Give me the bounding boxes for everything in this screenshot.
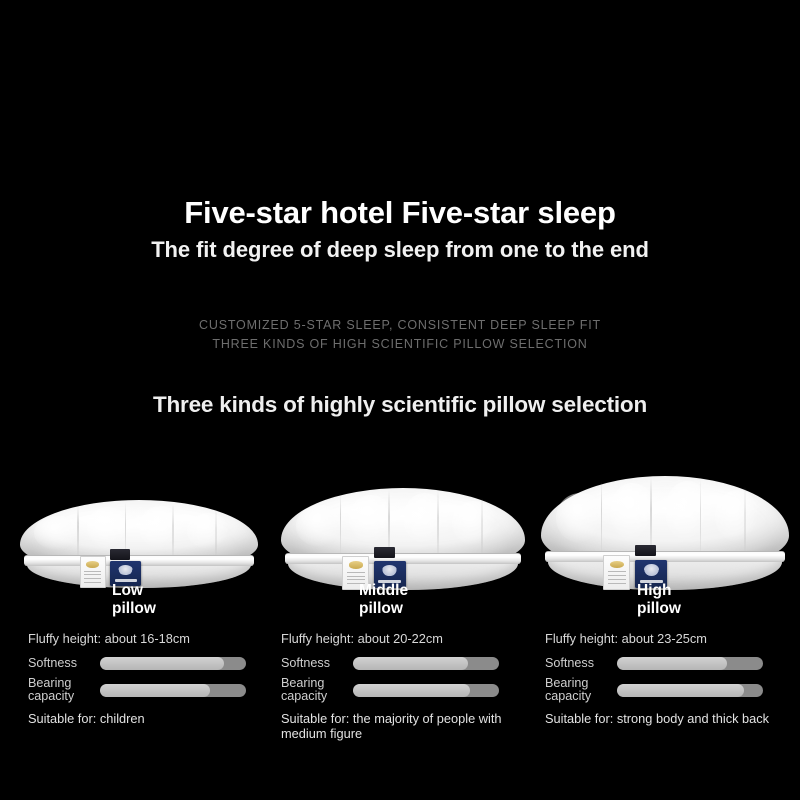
caption-line-2: THREE KINDS OF HIGH SCIENTIFIC PILLOW SE…	[0, 335, 800, 354]
meter-fill-bearing	[100, 684, 210, 697]
meter-label-bearing-line-1: Bearing	[281, 676, 324, 690]
suitable-for-middle: Suitable for: the majority of people wit…	[281, 711, 531, 742]
suitable-for-low: Suitable for: children	[28, 711, 273, 726]
meter-row-bearing: Bearing capacity	[545, 677, 795, 704]
meter-label-bearing-line-1: Bearing	[28, 676, 71, 690]
crest-icon	[86, 561, 99, 568]
tag-line	[84, 578, 101, 579]
caption-block: CUSTOMIZED 5-STAR SLEEP, CONSISTENT DEEP…	[0, 316, 800, 355]
tag-line	[347, 579, 365, 580]
tag-line	[608, 579, 626, 580]
pillow-title-line-1: Middle	[359, 582, 408, 599]
spec-column-middle: Middle pillow Fluffy height: about 20-22…	[281, 582, 531, 741]
meter-fill-softness	[353, 657, 468, 670]
meter-track-softness	[353, 657, 499, 670]
meter-group-low: Softness Bearing capacity	[28, 657, 273, 704]
meter-row-softness: Softness	[28, 657, 273, 670]
crest-icon	[610, 561, 624, 568]
meter-label-softness: Softness	[545, 657, 617, 670]
quilt-puff	[87, 507, 130, 547]
meter-track-bearing	[353, 684, 499, 697]
fluffy-height-high: Fluffy height: about 23-25cm	[545, 631, 795, 646]
caption-line-1: CUSTOMIZED 5-STAR SLEEP, CONSISTENT DEEP…	[0, 316, 800, 335]
tag-line	[347, 572, 365, 573]
quilt-puff	[403, 493, 447, 543]
pillow-title-line-2: pillow	[359, 600, 531, 618]
section-heading: Three kinds of highly scientific pillow …	[0, 392, 800, 418]
pillow-image-cell-high	[532, 455, 798, 580]
tag-line	[84, 574, 101, 575]
tag-line	[347, 576, 365, 577]
pillow-title-high: High pillow	[545, 582, 795, 618]
pillow-image-cell-low	[8, 455, 270, 580]
brand-logo-icon	[118, 565, 133, 575]
quilt-puff	[610, 483, 655, 541]
brand-logo-icon	[644, 564, 659, 575]
meter-fill-softness	[100, 657, 224, 670]
quilt-puff	[349, 495, 393, 544]
meter-row-bearing: Bearing capacity	[281, 677, 531, 704]
meter-group-middle: Softness Bearing capacity	[281, 657, 531, 704]
pillow-title-line-2: pillow	[637, 600, 795, 618]
page-title: Five-star hotel Five-star sleep	[0, 196, 800, 231]
crest-icon	[349, 561, 363, 568]
brand-strip-tag	[635, 545, 656, 556]
meter-track-softness	[100, 657, 246, 670]
meter-group-high: Softness Bearing capacity	[545, 657, 795, 704]
tag-line	[608, 575, 626, 576]
quilt-puff	[187, 513, 230, 549]
quilt-puff	[556, 493, 606, 543]
brand-strip-tag	[374, 547, 395, 558]
meter-row-softness: Softness	[545, 657, 795, 670]
brand-logo-icon	[382, 565, 397, 576]
tag-line	[608, 571, 626, 572]
pillow-title-middle: Middle pillow	[281, 582, 531, 618]
hero-headline-block: Five-star hotel Five-star sleep The fit …	[0, 196, 800, 262]
meter-label-bearing-line-2: capacity	[281, 690, 353, 703]
meter-track-bearing	[617, 684, 763, 697]
quilt-puff	[296, 505, 345, 547]
fluffy-height-low: Fluffy height: about 16-18cm	[28, 631, 273, 646]
meter-row-bearing: Bearing capacity	[28, 677, 273, 704]
meter-label-bearing-line-2: capacity	[28, 690, 100, 703]
product-infographic: Five-star hotel Five-star sleep The fit …	[0, 0, 800, 800]
pillow-image-row	[0, 455, 800, 580]
meter-label-bearing: Bearing capacity	[28, 677, 100, 704]
quilt-puff	[34, 516, 82, 551]
quilt-puff	[452, 501, 496, 545]
meter-label-softness: Softness	[28, 657, 100, 670]
meter-label-softness: Softness	[281, 657, 353, 670]
quilt-puff	[139, 506, 182, 548]
pillow-title-line-1: Low	[112, 582, 143, 599]
pillow-high-image	[541, 476, 789, 572]
meter-label-bearing-line-2: capacity	[545, 690, 617, 703]
meter-row-softness: Softness	[281, 657, 531, 670]
pillow-title-low: Low pillow	[28, 582, 273, 618]
meter-fill-bearing	[617, 684, 744, 697]
brand-strip-tag	[110, 549, 130, 560]
spec-column-high: High pillow Fluffy height: about 23-25cm…	[545, 582, 795, 726]
pillow-image-cell-middle	[272, 455, 534, 580]
suitable-for-high: Suitable for: strong body and thick back	[545, 711, 795, 726]
meter-track-softness	[617, 657, 763, 670]
tag-line	[84, 571, 101, 572]
pillow-middle-image	[281, 488, 525, 572]
meter-label-bearing-line-1: Bearing	[545, 676, 588, 690]
spec-column-low: Low pillow Fluffy height: about 16-18cm …	[28, 582, 273, 726]
fluffy-height-middle: Fluffy height: about 20-22cm	[281, 631, 531, 646]
page-subtitle: The fit degree of deep sleep from one to…	[0, 237, 800, 262]
meter-fill-softness	[617, 657, 727, 670]
meter-label-bearing: Bearing capacity	[545, 677, 617, 704]
quilt-puff	[665, 481, 710, 541]
pillow-title-line-2: pillow	[112, 600, 273, 618]
quilt-puff	[715, 490, 760, 542]
meter-track-bearing	[100, 684, 246, 697]
meter-label-bearing: Bearing capacity	[281, 677, 353, 704]
pillow-title-line-1: High	[637, 582, 671, 599]
pillow-low-image	[20, 500, 258, 572]
meter-fill-bearing	[353, 684, 470, 697]
